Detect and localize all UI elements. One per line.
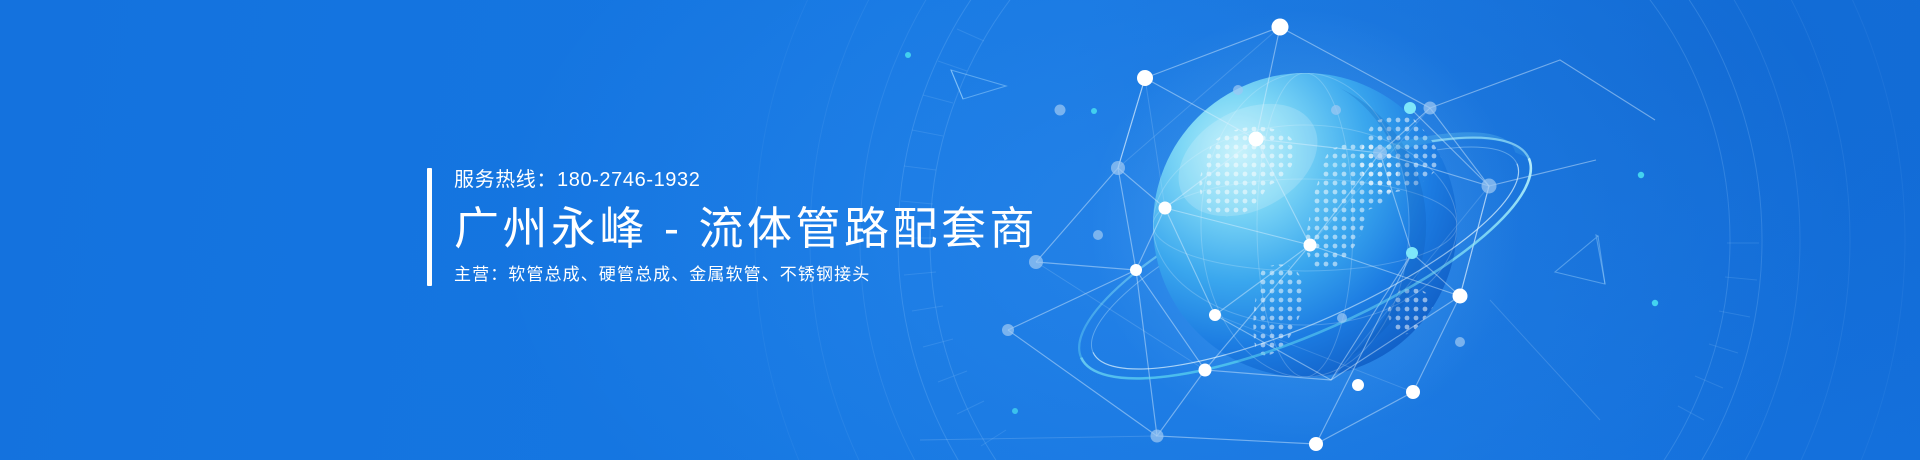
orbit-ring-front <box>1050 88 1559 425</box>
globe-sphere <box>1153 73 1457 377</box>
globe-highlight <box>1159 81 1337 239</box>
globe-shadow <box>1340 88 1426 362</box>
orbit-ring-back <box>1051 91 1559 426</box>
banner-text-block: 服务热线：180-2746-1932 广州永峰 - 流体管路配套商 主营：软管总… <box>427 168 1038 286</box>
vertical-accent-bar <box>427 168 432 286</box>
page-title: 广州永峰 - 流体管路配套商 <box>454 206 1038 251</box>
banner-text-lines: 服务热线：180-2746-1932 广州永峰 - 流体管路配套商 主营：软管总… <box>454 168 1038 286</box>
product-subtitle: 主营：软管总成、硬管总成、金属软管、不锈钢接头 <box>454 266 1038 283</box>
globe-graticule <box>1153 73 1457 377</box>
globe-continents <box>1199 116 1445 355</box>
globe-glow <box>1090 10 1520 440</box>
wireframe-triangle-right <box>1555 235 1605 284</box>
network-nodes <box>1002 19 1497 452</box>
wireframe-triangle-left <box>951 70 1006 99</box>
service-hotline: 服务热线：180-2746-1932 <box>454 170 1038 190</box>
network-lines <box>1008 27 1655 444</box>
arc-grid-right <box>1678 243 1759 420</box>
hero-banner: 服务热线：180-2746-1932 广州永峰 - 流体管路配套商 主营：软管总… <box>0 0 1920 460</box>
